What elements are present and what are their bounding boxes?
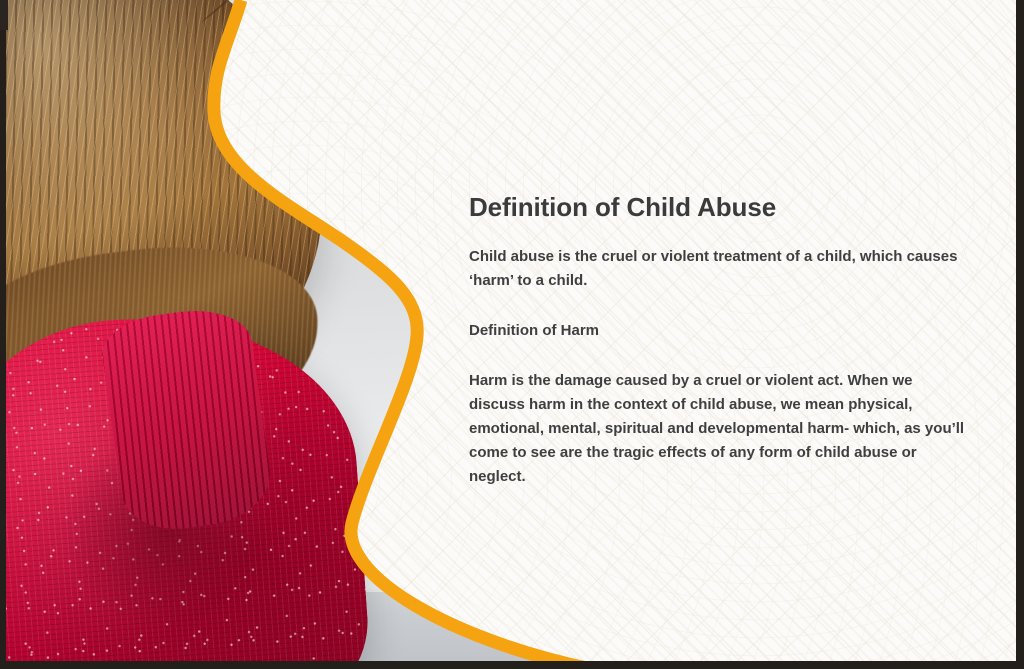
sweater-sleeve-cuff: [98, 303, 276, 537]
sleeve-rib-texture: [98, 303, 276, 537]
content-block: Definition of Child Abuse Child abuse is…: [469, 191, 969, 489]
frame-right-edge: [1016, 0, 1024, 669]
slide-canvas: Definition of Child Abuse Child abuse is…: [0, 0, 1024, 669]
page-title: Definition of Child Abuse: [469, 191, 969, 223]
frame-bottom-edge: [0, 661, 1024, 669]
frame-left-edge: [0, 0, 6, 669]
frame-top-left-edge: [0, 0, 8, 30]
definition-paragraph: Child abuse is the cruel or violent trea…: [469, 245, 967, 293]
harm-paragraph: Harm is the damage caused by a cruel or …: [469, 369, 967, 489]
harm-subheading: Definition of Harm: [469, 319, 969, 343]
